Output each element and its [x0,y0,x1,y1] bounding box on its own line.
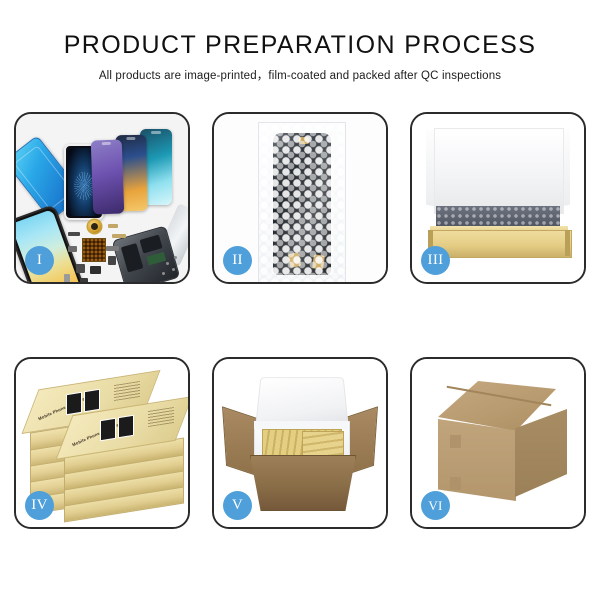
step-badge-2: II [223,246,252,275]
small-part [112,234,126,238]
screw [166,262,169,265]
foam-box-rim [254,421,348,429]
step-badge-1: I [25,246,54,275]
step-2-image: II [214,114,386,282]
process-step-3: III [410,112,586,284]
box-print-phone [100,418,116,442]
process-step-2: II [212,112,388,284]
screw [174,256,177,259]
battery [121,243,144,272]
box-side-right [565,230,570,256]
carton-tape-top [450,435,461,448]
step-badge-4: IV [25,491,54,520]
board [140,235,163,254]
step-4-image: Mobile Phone Spare Parts Mobile Phone Sp… [16,359,188,527]
notch [102,142,111,145]
gold-coil-part [88,220,101,233]
notch [126,137,135,140]
carton-tape-bottom [450,477,461,490]
process-grid: I II [14,112,586,529]
small-part [64,274,70,282]
step-5-image: V [214,359,386,527]
kraft-box-base [428,230,572,258]
page-subtitle: All products are image-printed，film-coat… [0,69,600,83]
step-3-image: III [412,114,584,282]
small-part [108,224,118,228]
bubble-wrap-bag [258,122,346,282]
plastic-sheen [259,123,345,282]
process-step-4: Mobile Phone Spare Parts Mobile Phone Sp… [14,357,190,529]
box-print-phone [84,389,100,413]
page-title: PRODUCT PREPARATION PROCESS [0,30,600,60]
phone-purple [91,139,125,214]
connector-grid-part [82,238,106,262]
screw [172,268,175,271]
step-badge-3: III [421,246,450,275]
process-step-1: I [14,112,190,284]
poster-root: PRODUCT PREPARATION PROCESS All products… [0,0,600,600]
small-part [80,278,88,282]
white-foam-lid [434,128,564,214]
small-part [90,266,101,274]
step-badge-6: VI [421,491,450,520]
small-part [68,232,80,236]
small-part [68,246,77,252]
process-step-6: VI [410,357,586,529]
small-part [106,246,119,251]
notch [151,131,161,134]
small-part [76,264,85,273]
process-step-5: V [212,357,388,529]
box-print-phone [66,392,82,416]
foam-box-lid [255,377,348,425]
small-part [108,256,116,265]
step-1-image: I [16,114,188,282]
carton-body [250,455,356,511]
pcb [146,252,166,266]
screw [162,272,165,275]
step-6-image: VI [412,359,584,527]
header: PRODUCT PREPARATION PROCESS All products… [0,0,600,83]
step-badge-5: V [223,491,252,520]
box-print-phone [118,415,134,439]
